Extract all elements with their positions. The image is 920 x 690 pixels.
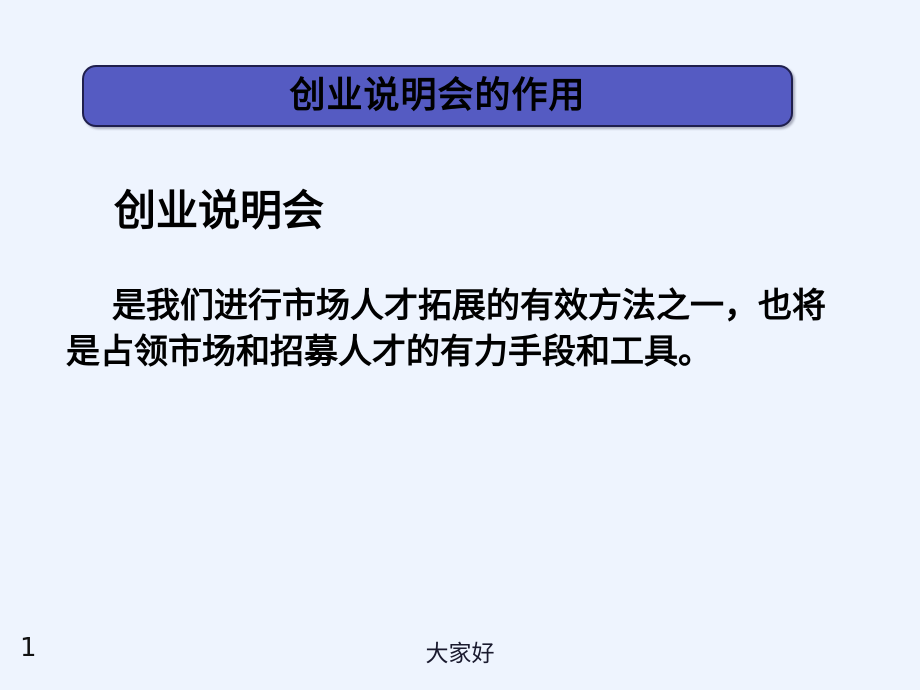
slide-body-paragraph: 是我们进行市场人才拓展的有效方法之一，也将是占领市场和招募人才的有力手段和工具。 [66, 283, 856, 375]
slide-canvas: 创业说明会的作用 创业说明会 是我们进行市场人才拓展的有效方法之一，也将是占领市… [0, 0, 920, 690]
slide-subheading: 创业说明会 [114, 188, 324, 234]
footer-note: 大家好 [0, 643, 920, 666]
slide-title-text: 创业说明会的作用 [289, 78, 585, 114]
slide-title-banner: 创业说明会的作用 [82, 65, 793, 127]
